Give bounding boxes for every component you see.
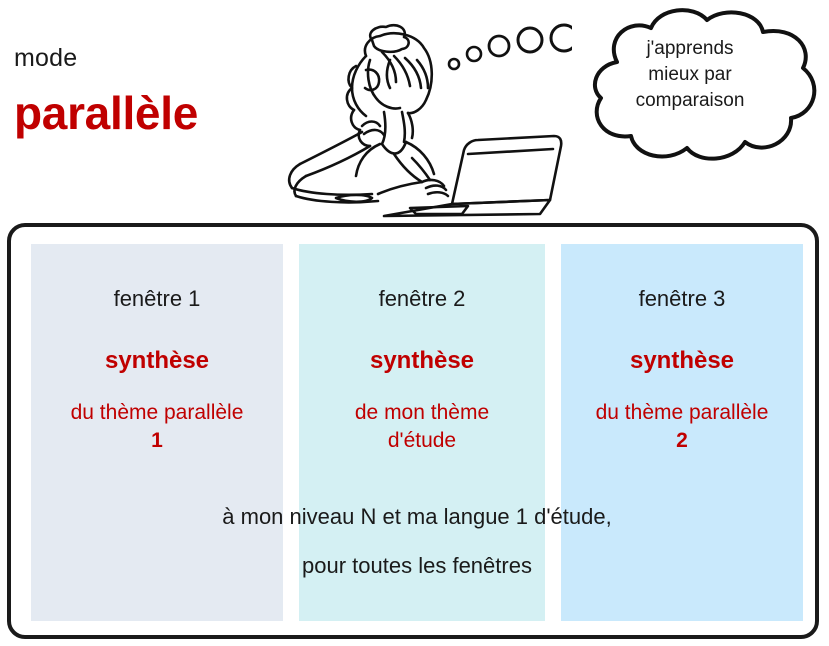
panel-3-desc-line-2: 2 — [561, 427, 803, 455]
person-at-laptop-icon — [262, 8, 572, 222]
panel-fenetre-1[interactable]: fenêtre 1 synthèse du thème parallèle 1 — [31, 244, 283, 621]
panel-2-desc-line-2: d'étude — [299, 427, 545, 455]
windows-container: fenêtre 1 synthèse du thème parallèle 1 … — [7, 223, 819, 639]
bubble-line-1: j'apprends — [601, 36, 779, 62]
bubble-line-2: mieux par — [601, 62, 779, 88]
panel-2-window-label: fenêtre 2 — [299, 286, 545, 312]
mode-label: mode — [14, 44, 77, 73]
panels-row: fenêtre 1 synthèse du thème parallèle 1 … — [11, 227, 815, 635]
panel-3-desc-line-1: du thème parallèle — [561, 399, 803, 427]
panel-2-synthese-title: synthèse — [299, 347, 545, 375]
panel-2-desc-line-1: de mon thème — [299, 399, 545, 427]
panel-1-description: du thème parallèle 1 — [31, 399, 283, 455]
thought-bubble: j'apprends mieux par comparaison — [555, 4, 825, 170]
panel-1-desc-line-2: 1 — [31, 427, 283, 455]
panel-2-description: de mon thème d'étude — [299, 399, 545, 455]
thought-bubble-text: j'apprends mieux par comparaison — [601, 36, 779, 114]
panel-3-window-label: fenêtre 3 — [561, 286, 803, 312]
panel-1-synthese-title: synthèse — [31, 347, 283, 375]
bubble-line-3: comparaison — [601, 88, 779, 114]
panel-fenetre-2[interactable]: fenêtre 2 synthèse de mon thème d'étude — [299, 244, 545, 621]
panel-3-synthese-title: synthèse — [561, 347, 803, 375]
panel-fenetre-3[interactable]: fenêtre 3 synthèse du thème parallèle 2 — [561, 244, 803, 621]
panel-1-desc-line-1: du thème parallèle — [31, 399, 283, 427]
panel-1-window-label: fenêtre 1 — [31, 286, 283, 312]
header-area: mode parallèle — [0, 0, 829, 222]
mode-title: parallèle — [14, 86, 198, 140]
panel-3-description: du thème parallèle 2 — [561, 399, 803, 455]
